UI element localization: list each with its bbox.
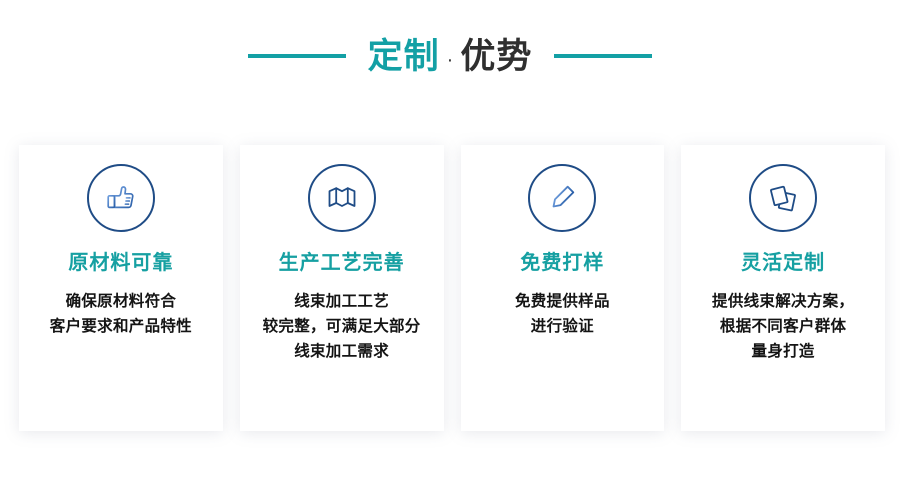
- advantage-card[interactable]: 免费打样 免费提供样品 进行验证: [461, 145, 665, 431]
- advantages-section: 定制 · 优势: [0, 0, 900, 499]
- advantage-card-body: 提供线束解决方案， 根据不同客户群体 量身打造: [704, 289, 862, 364]
- page-title: 定制 · 优势: [368, 39, 533, 74]
- advantage-card-line: 线束加工工艺: [263, 289, 421, 314]
- advantage-card-line: 确保原材料符合: [50, 289, 192, 314]
- advantage-card-body: 确保原材料符合 客户要求和产品特性: [42, 289, 200, 339]
- pencil-icon: [528, 164, 596, 232]
- advantage-card-title: 免费打样: [520, 253, 604, 273]
- thumbs-up-icon: [87, 164, 155, 232]
- advantage-card-line: 较完整，可满足大部分: [263, 314, 421, 339]
- header-rule-left: [248, 54, 346, 58]
- advantage-card-line: 客户要求和产品特性: [50, 314, 192, 339]
- advantage-card-line: 提供线束解决方案，: [712, 289, 854, 314]
- advantage-card-title: 灵活定制: [741, 253, 825, 273]
- folded-map-icon: [308, 164, 376, 232]
- stacked-sheets-icon: [749, 164, 817, 232]
- header-rule-right: [554, 54, 652, 58]
- advantage-card-line: 进行验证: [515, 314, 610, 339]
- advantage-card-line: 线束加工需求: [263, 339, 421, 364]
- page-title-separator: ·: [440, 50, 461, 70]
- advantage-card-body: 线束加工工艺 较完整，可满足大部分 线束加工需求: [255, 289, 429, 364]
- advantage-card[interactable]: 原材料可靠 确保原材料符合 客户要求和产品特性: [19, 145, 223, 431]
- page-title-secondary: 优势: [460, 39, 532, 74]
- advantage-card-body: 免费提供样品 进行验证: [507, 289, 618, 339]
- advantage-card[interactable]: 生产工艺完善 线束加工工艺 较完整，可满足大部分 线束加工需求: [240, 145, 444, 431]
- advantage-card-line: 量身打造: [712, 339, 854, 364]
- advantage-card-list: 原材料可靠 确保原材料符合 客户要求和产品特性 生产工艺完善 线束加工工艺 较完…: [19, 145, 885, 431]
- page-title-primary: 定制: [368, 39, 440, 74]
- advantage-card-line: 免费提供样品: [515, 289, 610, 314]
- advantage-card-line: 根据不同客户群体: [712, 314, 854, 339]
- advantage-card[interactable]: 灵活定制 提供线束解决方案， 根据不同客户群体 量身打造: [681, 145, 885, 431]
- advantage-card-title: 原材料可靠: [68, 253, 173, 273]
- section-header: 定制 · 优势: [0, 26, 900, 86]
- advantage-card-title: 生产工艺完善: [279, 253, 405, 273]
